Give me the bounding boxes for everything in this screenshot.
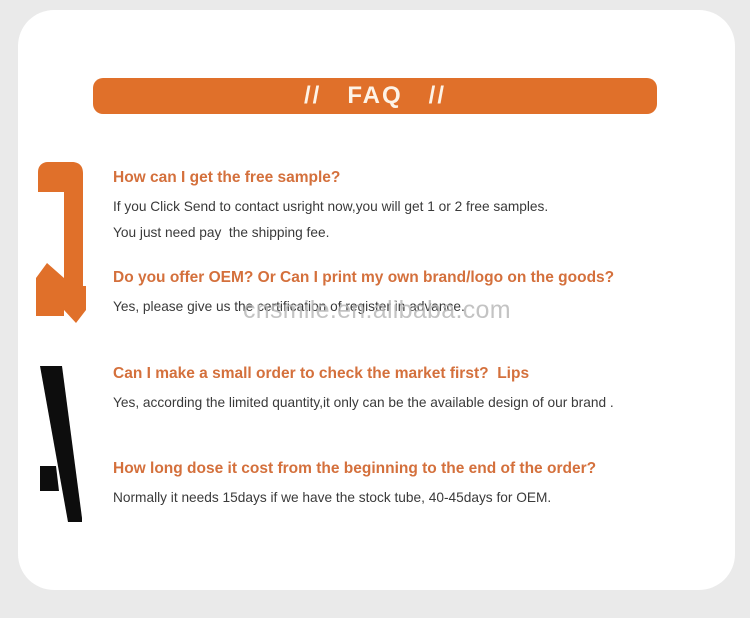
faq-answer: If you Click Send to contact usright now… xyxy=(113,197,713,216)
faq-item: Do you offer OEM? Or Can I print my own … xyxy=(113,268,713,316)
faq-item: Can I make a small order to check the ma… xyxy=(113,364,713,412)
faq-question: How long dose it cost from the beginning… xyxy=(113,459,713,479)
faq-item: How long dose it cost from the beginning… xyxy=(113,459,713,507)
faq-question: How can I get the free sample? xyxy=(113,168,713,188)
faq-question: Do you offer OEM? Or Can I print my own … xyxy=(113,268,713,288)
faq-answer: Yes, please give us the certification of… xyxy=(113,297,713,316)
faq-banner: // FAQ // xyxy=(93,78,657,114)
faq-answer: Yes, according the limited quantity,it o… xyxy=(113,393,713,412)
faq-question: Can I make a small order to check the ma… xyxy=(113,364,713,384)
faq-banner-title: // FAQ // xyxy=(304,82,446,110)
faq-answer: Normally it needs 15days if we have the … xyxy=(113,488,713,507)
faq-page: // FAQ // How can I get the free sample?… xyxy=(0,0,750,618)
faq-item: How can I get the free sample? If you Cl… xyxy=(113,168,713,242)
faq-list: How can I get the free sample? If you Cl… xyxy=(113,168,713,507)
faq-answer: You just need pay the shipping fee. xyxy=(113,223,713,242)
